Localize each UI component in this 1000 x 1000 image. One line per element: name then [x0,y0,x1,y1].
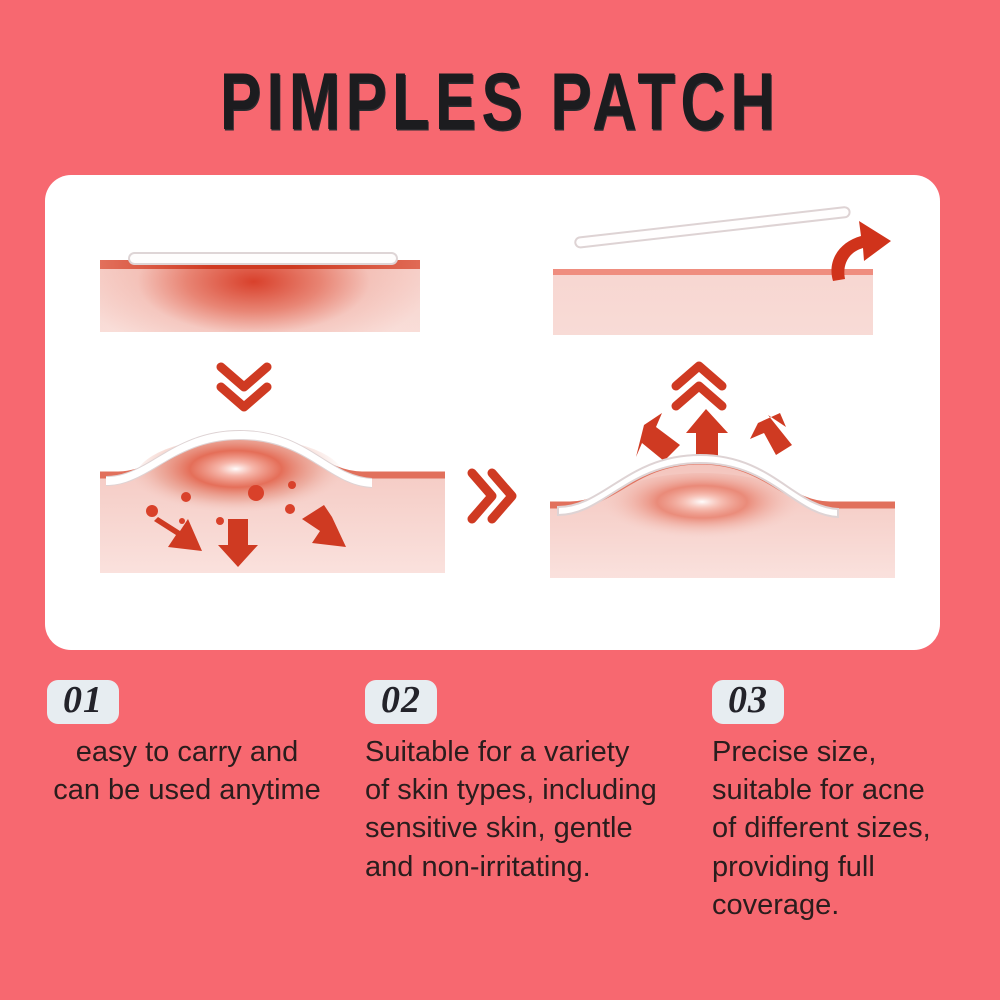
feature-text-03: Precise size, suitable for acne of diffe… [712,733,992,924]
feature-badge-02: 02 [365,680,437,724]
diagram-card [45,175,940,650]
pimple-extraction-illustration [550,393,895,578]
feature-text-02: Suitable for a variety of skin types, in… [365,733,695,886]
pimple-absorption-illustration [100,423,445,573]
feature-item-03: 03 Precise size, suitable for acne of di… [712,680,992,924]
page-title: PIMPLES PATCH [70,62,930,143]
chevron-down-icon [213,357,275,417]
chevron-up-icon [668,358,730,416]
feature-badge-03: 03 [712,680,784,724]
feature-item-02: 02 Suitable for a variety of skin types,… [365,680,695,886]
peel-off-curved-arrow [809,209,901,301]
feature-list: 01 easy to carry and can be used anytime… [0,680,1000,980]
feature-badge-01: 01 [47,680,119,724]
panel-healed-skin [553,217,893,357]
inflamed-skin-layer [100,260,420,332]
panel-inflamed-skin [100,230,430,355]
feature-text-01: easy to carry and can be used anytime [22,733,352,810]
feature-item-01: 01 easy to carry and can be used anytime [22,680,352,809]
chevron-right-icon [462,465,522,527]
hydrocolloid-patch [128,252,398,265]
panel-patch-extracting [550,393,895,578]
panel-patch-absorbing [100,423,445,573]
